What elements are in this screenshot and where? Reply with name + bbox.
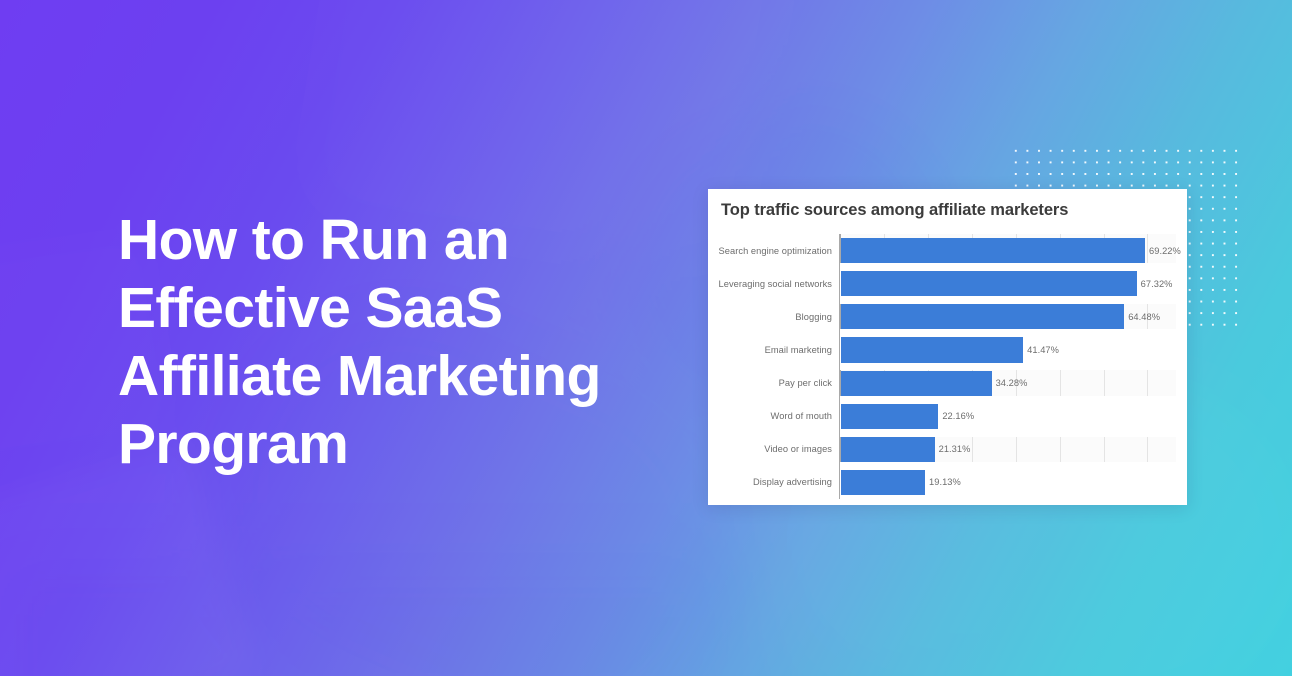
chart-bar <box>841 238 1145 263</box>
chart-bar <box>841 371 992 396</box>
bar-category-label: Leveraging social networks <box>708 267 832 300</box>
bar-category-label: Search engine optimization <box>708 234 832 267</box>
bar-value-label: 41.47% <box>1027 333 1059 366</box>
chart-bar <box>841 271 1137 296</box>
headline-line-2: Effective SaaS <box>118 274 738 342</box>
chart-plot-area: Search engine optimization69.22%Leveragi… <box>708 234 1187 499</box>
chart-title: Top traffic sources among affiliate mark… <box>721 201 1068 220</box>
chart-bar-row: Email marketing41.47% <box>708 333 1187 366</box>
headline-line-4: Program <box>118 410 738 478</box>
bar-category-label: Email marketing <box>708 333 832 366</box>
chart-bar <box>841 404 938 429</box>
chart-bar <box>841 470 925 495</box>
bar-category-label: Blogging <box>708 300 832 333</box>
chart-bar-row: Leveraging social networks67.32% <box>708 267 1187 300</box>
chart-bar-row: Display advertising19.13% <box>708 466 1187 499</box>
bar-category-label: Word of mouth <box>708 400 832 433</box>
bar-category-label: Pay per click <box>708 367 832 400</box>
bar-value-label: 22.16% <box>942 400 974 433</box>
bar-category-label: Display advertising <box>708 466 832 499</box>
chart-bar-rows: Search engine optimization69.22%Leveragi… <box>708 234 1187 499</box>
headline-line-1: How to Run an <box>118 206 738 274</box>
headline-line-3: Affiliate Marketing <box>118 342 738 410</box>
chart-bar <box>841 337 1023 362</box>
bar-category-label: Video or images <box>708 433 832 466</box>
chart-card: Top traffic sources among affiliate mark… <box>708 189 1187 505</box>
chart-bar-row: Word of mouth22.16% <box>708 400 1187 433</box>
bar-value-label: 19.13% <box>929 466 961 499</box>
hero-banner: How to Run an Effective SaaS Affiliate M… <box>0 0 1292 676</box>
chart-bar <box>841 304 1124 329</box>
page-title: How to Run an Effective SaaS Affiliate M… <box>118 206 738 478</box>
bar-value-label: 67.32% <box>1141 267 1173 300</box>
chart-bar <box>841 437 935 462</box>
